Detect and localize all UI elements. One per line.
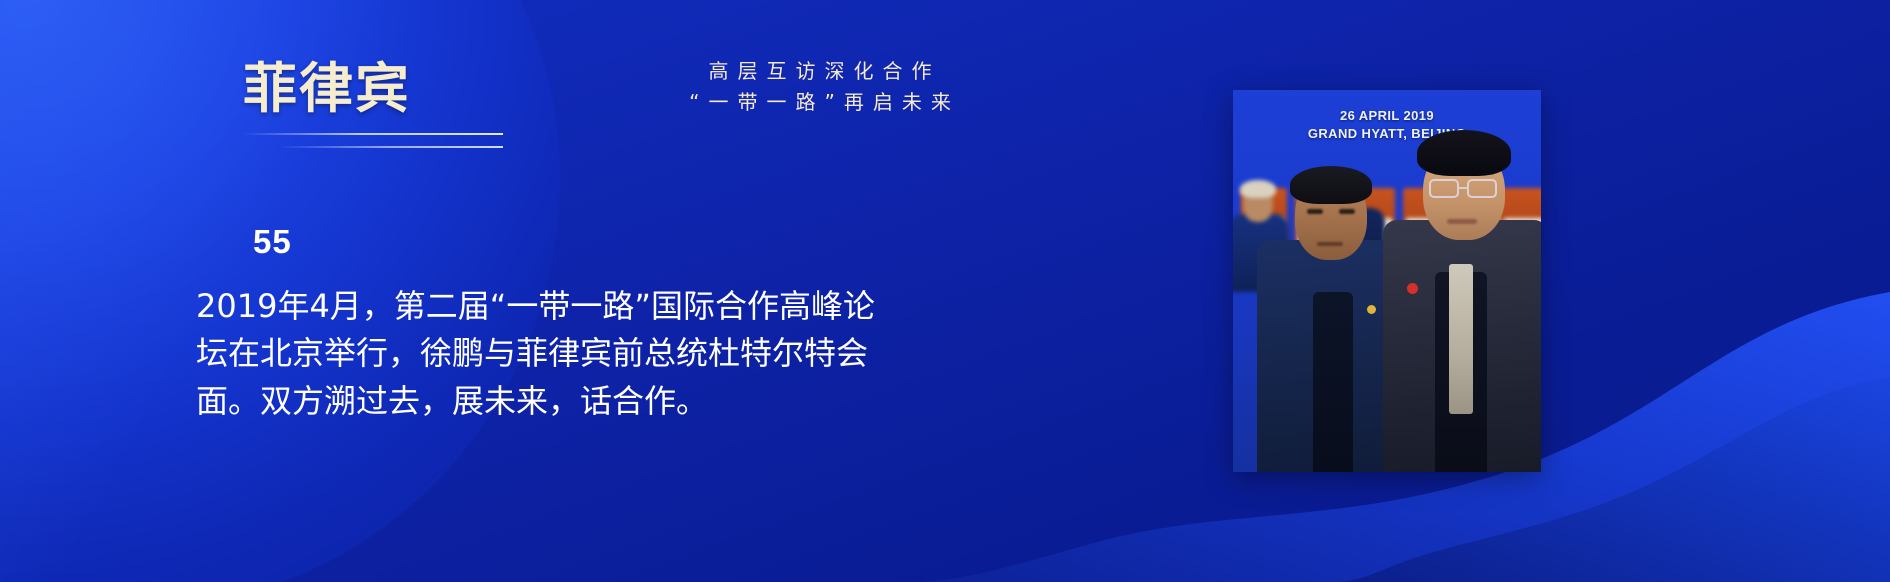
title-underline-primary bbox=[243, 133, 503, 135]
body-paragraph-line-3: 面。双方溯过去，展未来，话合作。 bbox=[196, 378, 1036, 425]
meeting-photo: 26 APRIL 2019 GRAND HYATT, BEIJING bbox=[1233, 90, 1541, 472]
president-eye-left bbox=[1307, 209, 1323, 214]
photo-content: 26 APRIL 2019 GRAND HYATT, BEIJING bbox=[1233, 90, 1541, 472]
businessman-tie bbox=[1449, 264, 1473, 414]
businessman-lapel-pin bbox=[1407, 283, 1418, 294]
president-lapel-pin bbox=[1367, 305, 1376, 314]
president-shirt bbox=[1313, 292, 1353, 472]
headline-block: 高层互访深化合作 “一带一路”再启未来 bbox=[470, 56, 1170, 118]
businessman-glasses-left-lens bbox=[1429, 179, 1459, 198]
president-eye-right bbox=[1339, 209, 1355, 214]
country-title: 菲律宾 bbox=[243, 62, 503, 116]
businessman-hair bbox=[1417, 130, 1511, 176]
title-underline-secondary bbox=[279, 146, 503, 148]
president-hair bbox=[1290, 166, 1372, 204]
country-title-block: 菲律宾 bbox=[243, 62, 503, 148]
president-mouth bbox=[1317, 242, 1343, 246]
body-paragraph: 2019年4月，第二届“一带一路”国际合作高峰论 坛在北京举行，徐鹏与菲律宾前总… bbox=[196, 283, 1036, 425]
businessman-glasses-right-lens bbox=[1467, 179, 1497, 198]
businessman-mouth bbox=[1447, 219, 1477, 224]
headline-line-2: “一带一路”再启未来 bbox=[470, 87, 1170, 118]
photo-caption-line-1: 26 APRIL 2019 bbox=[1233, 107, 1541, 125]
headline-line-1: 高层互访深化合作 bbox=[470, 56, 1170, 87]
slide-root: 菲律宾 高层互访深化合作 “一带一路”再启未来 55 2019年4月，第二届“一… bbox=[0, 0, 1890, 582]
businessman-glasses-bridge bbox=[1459, 187, 1467, 189]
item-number: 55 bbox=[253, 225, 1036, 258]
photo-person-businessman bbox=[1383, 127, 1541, 472]
body-paragraph-line-1: 2019年4月，第二届“一带一路”国际合作高峰论 bbox=[196, 283, 1036, 330]
content-block: 55 2019年4月，第二届“一带一路”国际合作高峰论 坛在北京举行，徐鹏与菲律… bbox=[196, 225, 1036, 425]
body-paragraph-line-2: 坛在北京举行，徐鹏与菲律宾前总统杜特尔特会 bbox=[196, 330, 1036, 377]
